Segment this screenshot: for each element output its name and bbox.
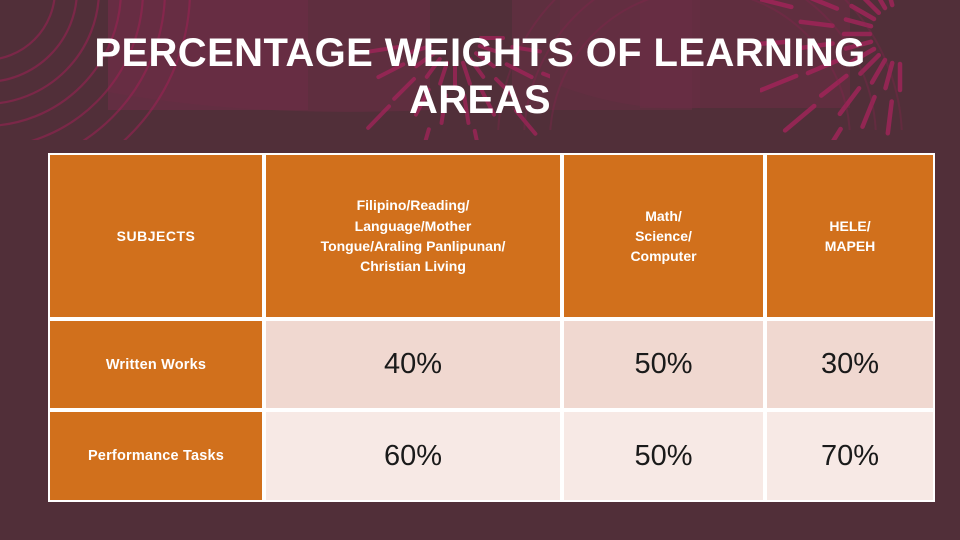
header-line: Science/: [570, 226, 757, 246]
slide: PERCENTAGE WEIGHTS OF LEARNING AREAS SUB…: [0, 0, 960, 540]
header-line: Language/Mother: [272, 216, 554, 236]
header-cell-subjects: SUBJECTS: [48, 153, 264, 319]
row-label-written-works: Written Works: [48, 319, 264, 410]
cell-written-works-math-science: 50%: [562, 319, 765, 410]
header-cell-languages: Filipino/Reading/ Language/Mother Tongue…: [264, 153, 562, 319]
cell-performance-tasks-languages: 60%: [264, 410, 562, 502]
cell-performance-tasks-math-science: 50%: [562, 410, 765, 502]
table-row: Performance Tasks 60% 50% 70%: [48, 410, 935, 502]
header-line: Christian Living: [272, 256, 554, 276]
table-header-row: SUBJECTS Filipino/Reading/ Language/Moth…: [48, 153, 935, 319]
header-cell-math-science: Math/ Science/ Computer: [562, 153, 765, 319]
table-row: Written Works 40% 50% 30%: [48, 319, 935, 410]
header-line: Tongue/Araling Panlipunan/: [272, 236, 554, 256]
weights-table-container: SUBJECTS Filipino/Reading/ Language/Moth…: [48, 153, 935, 494]
row-label-performance-tasks: Performance Tasks: [48, 410, 264, 502]
header-line: Math/: [570, 206, 757, 226]
header-label-subjects: SUBJECTS: [117, 228, 196, 244]
cell-written-works-languages: 40%: [264, 319, 562, 410]
header-line: MAPEH: [773, 236, 927, 256]
page-title: PERCENTAGE WEIGHTS OF LEARNING AREAS: [80, 30, 880, 124]
header-line: Computer: [570, 246, 757, 266]
weights-table: SUBJECTS Filipino/Reading/ Language/Moth…: [48, 153, 935, 502]
cell-performance-tasks-hele-mapeh: 70%: [765, 410, 935, 502]
header-cell-hele-mapeh: HELE/ MAPEH: [765, 153, 935, 319]
cell-written-works-hele-mapeh: 30%: [765, 319, 935, 410]
header-line: Filipino/Reading/: [272, 195, 554, 215]
header-line: HELE/: [773, 216, 927, 236]
